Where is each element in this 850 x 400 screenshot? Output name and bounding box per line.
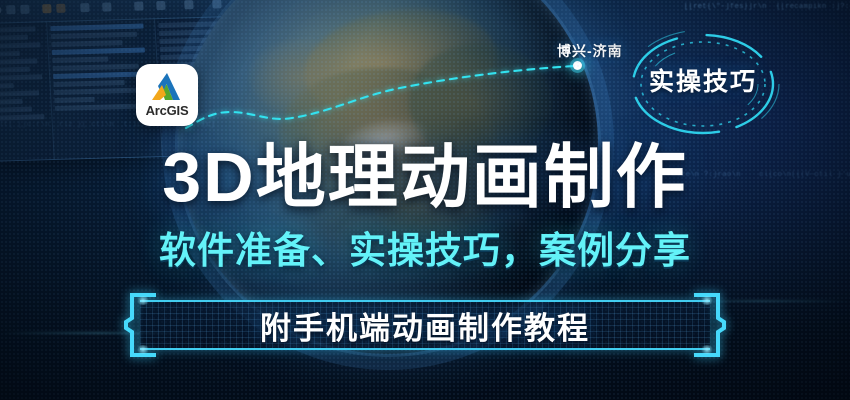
arcgis-a-mark-icon xyxy=(147,72,187,102)
badge-label: 实操技巧 xyxy=(618,62,788,98)
bottom-callout-box: 附手机端动画制作教程 xyxy=(122,292,728,358)
arcgis-logo: ArcGIS xyxy=(136,64,198,126)
bottom-callout-text: 附手机端动画制作教程 xyxy=(122,292,728,358)
arcgis-wordmark: ArcGIS xyxy=(146,103,189,118)
page-subtitle: 软件准备、实操技巧，案例分享 xyxy=(0,232,850,269)
badge-tech-ring: 实操技巧 xyxy=(618,28,788,140)
page-title: 3D地理动画制作 xyxy=(0,142,850,212)
promo-banner: 博兴-济南 [[ret{\"-]fes}]r\n {[recampikn :]?… xyxy=(0,0,850,400)
